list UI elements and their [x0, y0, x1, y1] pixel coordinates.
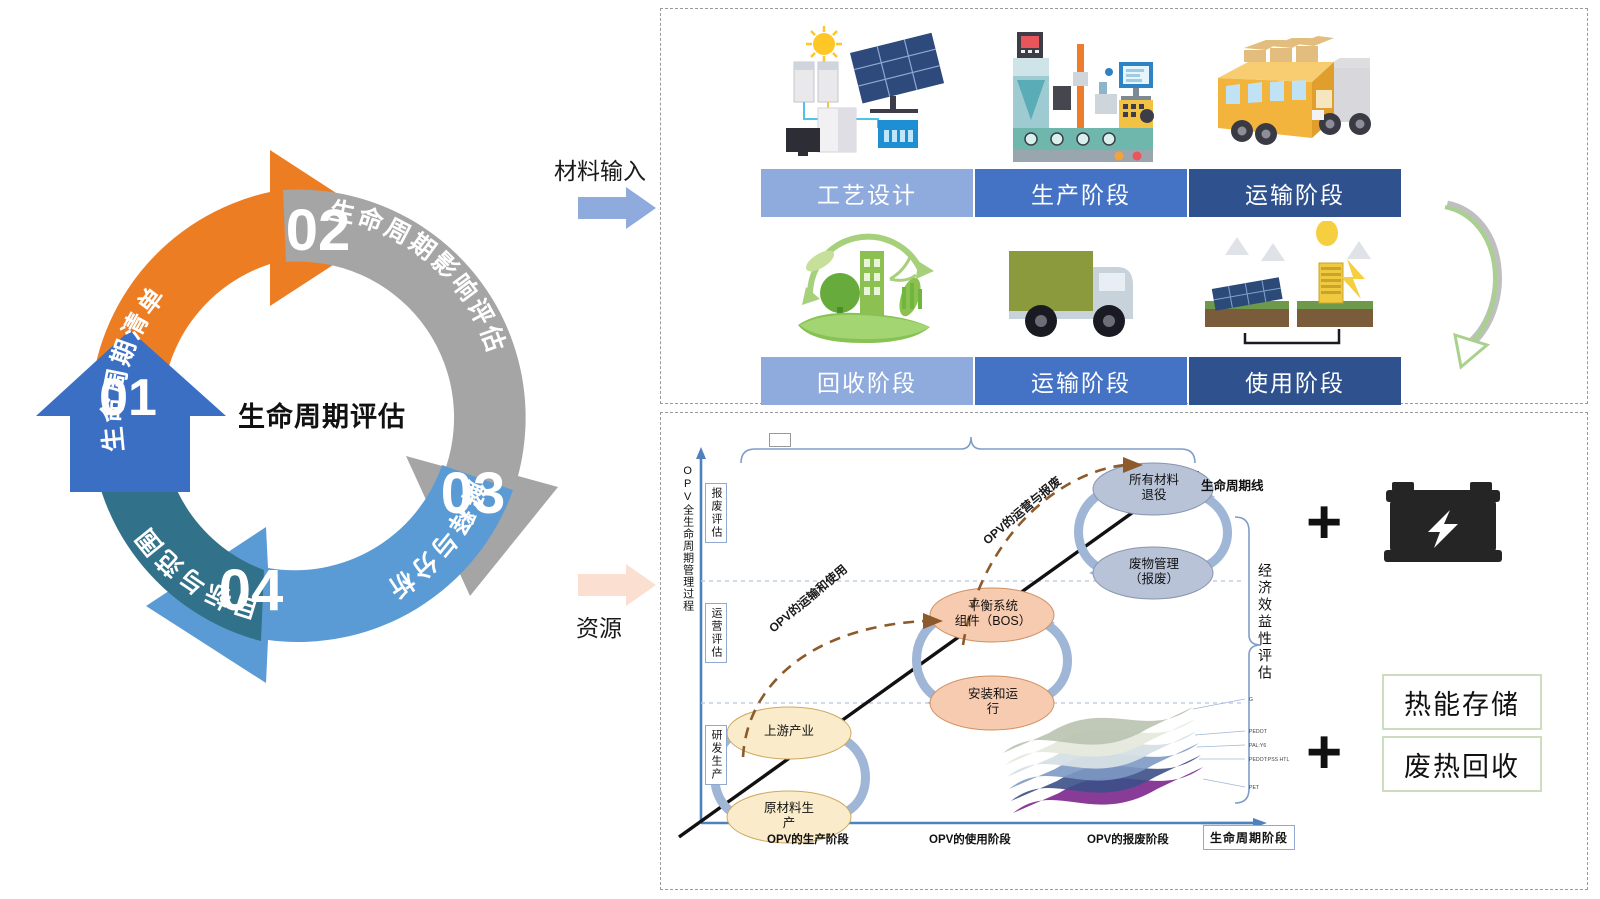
lifecycle-stages-panel: 工艺设计 生产阶段 运输阶段 — [660, 8, 1588, 404]
lca-cycle-diagram: 02 03 04 01 生命周期清单 生命周期影响评估 解释与分析 目标与范围 … — [18, 140, 618, 700]
y-stage-scrap-assessment: 报废评估 — [705, 483, 727, 543]
diagonal-lifecycle-line-label: 生命周期线 — [1201, 475, 1264, 494]
legend-placeholder-box — [769, 433, 791, 447]
waste-heat-recovery-box[interactable]: 废热回收 — [1382, 736, 1542, 792]
svg-text:G: G — [1249, 697, 1253, 703]
chart-y-axis-title: OPV全生命周期管理过程 — [681, 465, 694, 795]
svg-text:PET: PET — [1249, 785, 1260, 791]
plus-icon-top: + — [1306, 492, 1342, 554]
battery-icon — [1380, 480, 1506, 566]
stage-bar-usage[interactable]: 使用阶段 — [1189, 357, 1401, 405]
thermal-energy-storage-box[interactable]: 热能存储 — [1382, 674, 1542, 730]
node-label-upstream-industry: 上游产业 — [733, 724, 845, 739]
stage-icons-row-2 — [761, 217, 1401, 357]
economic-benefit-assessment-label: 经济效益性评估 — [1255, 563, 1275, 763]
x-axis-title-box: 生命周期阶段 — [1203, 825, 1295, 850]
stage-bar-transport-2[interactable]: 运输阶段 — [975, 357, 1187, 405]
stage-bars-row-1: 工艺设计 生产阶段 运输阶段 — [761, 169, 1401, 217]
node-label-waste-management: 废物管理 （报废） — [1097, 557, 1211, 587]
stage-loop-arrow-icon — [1427, 195, 1547, 375]
solar-pv-system-icon — [761, 19, 974, 169]
delivery-truck-icon — [974, 217, 1187, 357]
resource-arrow-icon — [578, 562, 658, 608]
plus-icon-bottom: + — [1306, 722, 1342, 784]
resource-label: 资源 — [576, 609, 622, 643]
cargo-truck-icon — [1188, 19, 1401, 169]
stage-bar-production[interactable]: 生产阶段 — [975, 169, 1187, 217]
stage-bar-transport-1[interactable]: 运输阶段 — [1189, 169, 1401, 217]
node-label-install-operate: 安装和运 行 — [935, 687, 1051, 717]
x-tick-usage-stage: OPV的使用阶段 — [929, 831, 1011, 847]
x-tick-scrap-stage: OPV的报废阶段 — [1087, 831, 1169, 847]
material-input-label: 材料输入 — [554, 152, 646, 186]
x-tick-production-stage: OPV的生产阶段 — [767, 831, 849, 847]
stage-bar-process-design[interactable]: 工艺设计 — [761, 169, 973, 217]
node-label-raw-material-production: 原材料生 产 — [733, 801, 845, 831]
y-stage-rnd-production: 研发生产 — [705, 725, 727, 785]
stage-grid: 工艺设计 生产阶段 运输阶段 — [761, 19, 1401, 405]
stage-bars-row-2: 回收阶段 运输阶段 使用阶段 — [761, 357, 1401, 405]
material-input-arrow-icon — [578, 185, 658, 231]
solar-farm-battery-icon — [1188, 217, 1401, 357]
stage-icons-row-1 — [761, 19, 1401, 169]
y-stage-operation-assessment: 运营评估 — [705, 603, 727, 663]
lca-center-title: 生命周期评估 — [202, 395, 442, 434]
node-label-all-materials-retired: 所有材料 退役 — [1097, 473, 1211, 503]
factory-production-line-icon — [974, 19, 1187, 169]
node-label-bos: 平衡系统 组件（BOS） — [935, 599, 1051, 629]
green-recycle-city-icon — [761, 217, 974, 357]
stage-bar-recycling[interactable]: 回收阶段 — [761, 357, 973, 405]
